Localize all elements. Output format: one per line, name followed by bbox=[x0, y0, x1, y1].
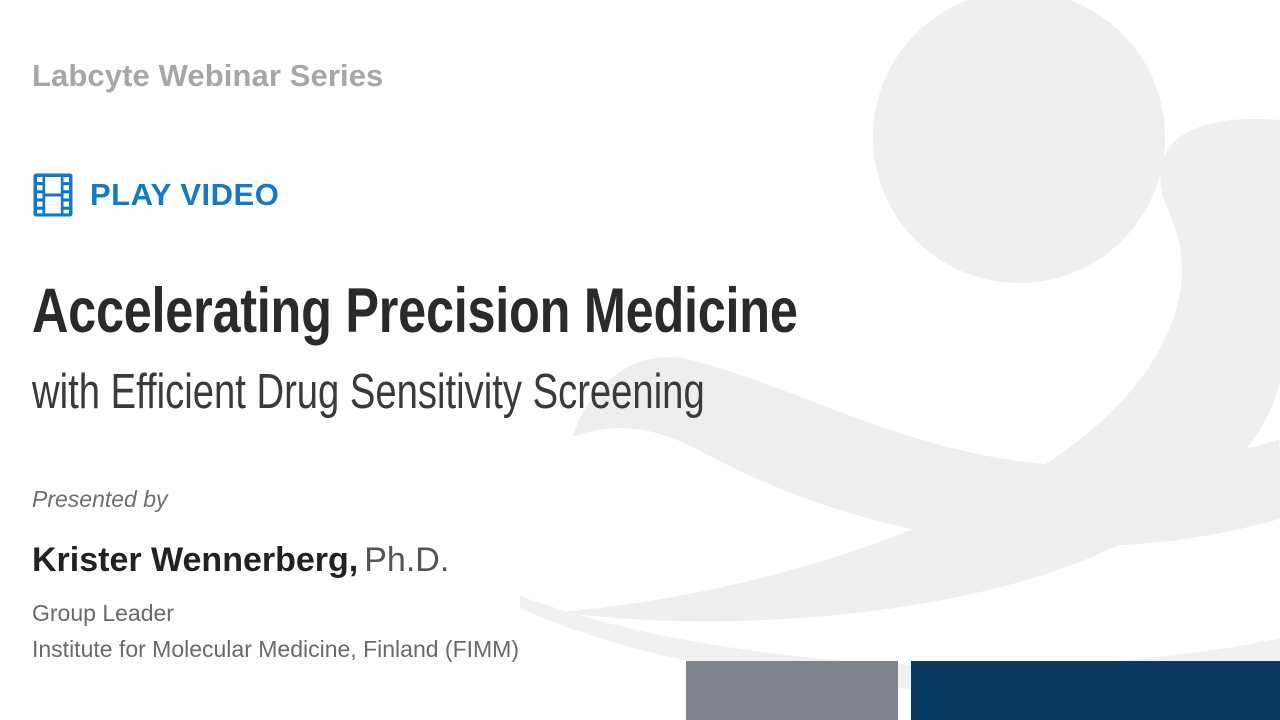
play-video-button[interactable]: PLAY VIDEO bbox=[32, 172, 279, 218]
film-strip-icon bbox=[32, 172, 74, 218]
speaker-name: Krister Wennerberg, bbox=[32, 541, 358, 579]
speaker-affiliation: Institute for Molecular Medicine, Finlan… bbox=[32, 636, 519, 663]
webinar-title-slide: Labcyte Webinar Series PLAY VI bbox=[0, 0, 1280, 720]
series-eyebrow: Labcyte Webinar Series bbox=[32, 58, 383, 94]
presented-by-label: Presented by bbox=[32, 486, 168, 513]
speaker-role: Group Leader bbox=[32, 600, 174, 627]
footer-bar-navy bbox=[911, 661, 1280, 720]
content-column: Labcyte Webinar Series PLAY VI bbox=[32, 0, 932, 720]
speaker-line: Krister Wennerberg,Ph.D. bbox=[32, 541, 449, 580]
slide-title-sub: with Efficient Drug Sensitivity Screenin… bbox=[32, 366, 705, 418]
speaker-degree: Ph.D. bbox=[364, 541, 449, 579]
slide-title-main: Accelerating Precision Medicine bbox=[32, 279, 798, 343]
play-video-label: PLAY VIDEO bbox=[90, 177, 279, 213]
